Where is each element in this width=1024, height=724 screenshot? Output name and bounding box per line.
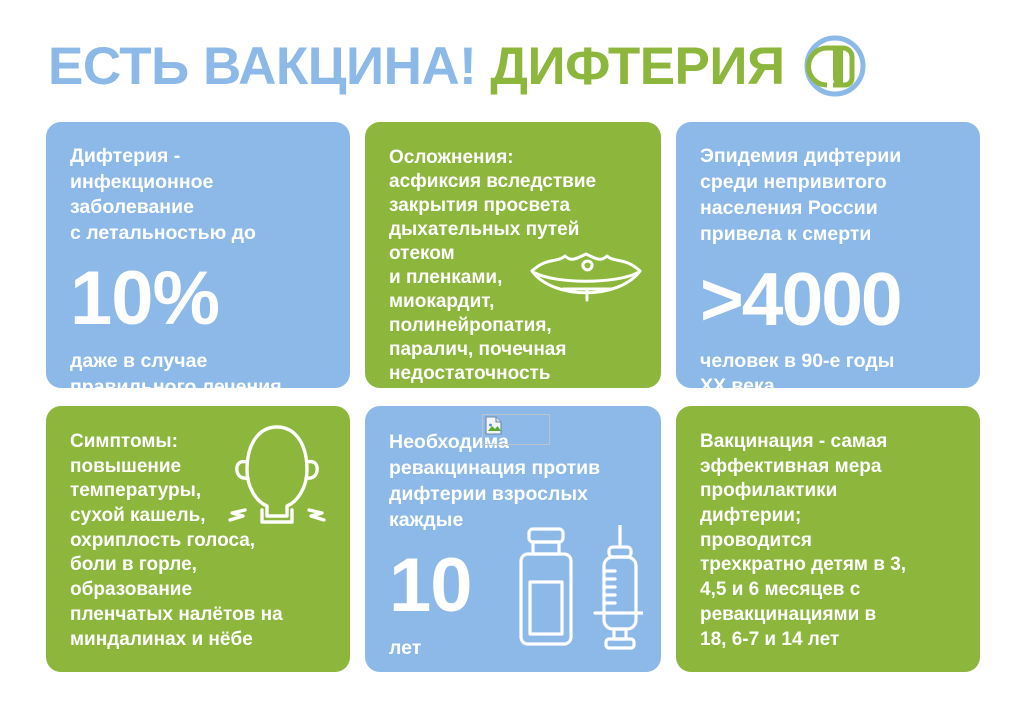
card-epidemic: Эпидемия дифтерии среди непривитого насе… [676,122,980,388]
card-revaccination-foot: лет [389,636,641,662]
card-definition-lead: Дифтерия - инфекционное заболевание с ле… [70,144,330,247]
infographic-page: ЕСТЬ ВАКЦИНА!ДИФТЕРИЯ Дифтерия - инфекци… [0,0,1024,724]
card-revaccination-figure: 10 [389,548,641,624]
card-prevention: Вакцинация - самая эффективная мера проф… [676,406,980,672]
card-grid: Дифтерия - инфекционное заболевание с ле… [46,122,980,672]
card-definition-foot: даже в случае правильного лечения [70,349,330,388]
cg-monogram-logo [803,34,867,98]
broken-image-placeholder [482,414,550,445]
card-symptoms: Симптомы: повышение температуры, сухой к… [46,406,350,672]
card-revaccination-lead: Необходима ревакцинация против дифтерии … [389,430,641,534]
card-epidemic-figure: >4000 [700,262,960,337]
broken-image-icon [482,414,506,438]
card-symptoms-text: Симптомы: повышение температуры, сухой к… [70,430,330,652]
title-part-diphtheria: ДИФТЕРИЯ [490,40,784,93]
card-complications-text: Осложнения: асфиксия вследствие закрытия… [389,146,641,386]
card-prevention-text: Вакцинация - самая эффективная мера проф… [700,430,960,652]
card-epidemic-lead: Эпидемия дифтерии среди непривитого насе… [700,144,960,248]
card-epidemic-foot: человек в 90-е годы XX века [700,349,960,388]
card-definition-figure: 10% [70,261,330,337]
page-title: ЕСТЬ ВАКЦИНА!ДИФТЕРИЯ [48,40,785,93]
title-part-vaccine-exists: ЕСТЬ ВАКЦИНА! [48,40,476,93]
card-complications: Осложнения: асфиксия вследствие закрытия… [365,122,661,388]
card-revaccination: Необходима ревакцинация против дифтерии … [365,406,661,672]
card-definition: Дифтерия - инфекционное заболевание с ле… [46,122,350,388]
header: ЕСТЬ ВАКЦИНА!ДИФТЕРИЯ [0,26,1024,106]
